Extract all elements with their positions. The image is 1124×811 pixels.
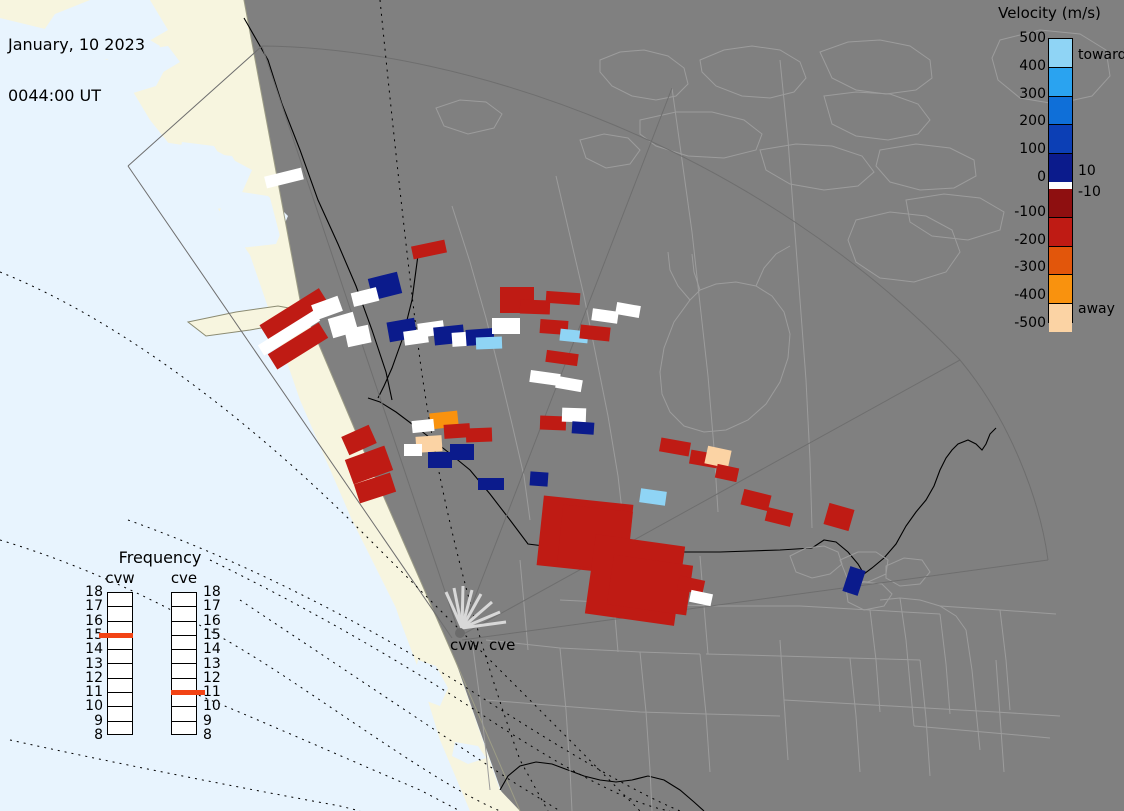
- frequency-gauge-step: [108, 693, 132, 707]
- colorbar-band-6: [1049, 189, 1072, 218]
- frequency-gauge-step: [108, 650, 132, 664]
- colorbar-zero-lower-label: -10: [1078, 184, 1101, 200]
- colorbar-tick-0: 0: [1037, 169, 1046, 185]
- velocity-cell: [476, 337, 502, 350]
- frequency-marker-cvw: [99, 633, 133, 638]
- frequency-gauge-step: [172, 707, 196, 721]
- header-date: January, 10 2023: [8, 36, 145, 53]
- header-time: 0044:00 UT: [8, 87, 145, 104]
- frequency-gauge-label-cve: cve: [168, 569, 200, 587]
- frequency-gauge-cvw: cvw18171615141312111098: [107, 583, 133, 726]
- colorbar-tick-400: 400: [1019, 58, 1046, 74]
- colorbar-zero-upper-label: 10: [1078, 163, 1096, 179]
- velocity-cell: [562, 408, 586, 423]
- superdarn-velocity-map: January, 10 2023 0044:00 UT Velocity (m/…: [0, 0, 1124, 811]
- velocity-cell: [428, 452, 452, 468]
- colorbar-band-1: [1049, 68, 1072, 97]
- colorbar-tick--400: -400: [1014, 287, 1046, 303]
- frequency-gauge-step: [172, 607, 196, 621]
- colorbar-tick-500: 500: [1019, 30, 1046, 46]
- frequency-gauge-cve: cve18171615141312111098: [171, 583, 197, 726]
- colorbar-title: Velocity (m/s): [975, 4, 1124, 22]
- velocity-cell: [478, 478, 504, 490]
- colorbar-band-0: [1049, 39, 1072, 68]
- colorbar-away-label: away: [1078, 301, 1115, 317]
- frequency-gauge-label-cvw: cvw: [104, 569, 136, 587]
- frequency-gauge-step: [108, 593, 132, 607]
- frequency-marker-cve: [171, 690, 205, 695]
- colorbar-tick--500: -500: [1014, 315, 1046, 331]
- frequency-gauge-scale-cve: [171, 592, 197, 735]
- colorbar-tick-200: 200: [1019, 113, 1046, 129]
- velocity-cell: [450, 444, 474, 460]
- frequency-gauge-step: [172, 722, 196, 736]
- velocity-cell: [492, 318, 520, 334]
- frequency-tick-cvw-8: 8: [94, 727, 103, 743]
- colorbar-band-5: [1049, 182, 1072, 189]
- frequency-panel: Frequency cvw18171615141312111098cve1817…: [85, 545, 235, 790]
- frequency-gauge-step: [172, 664, 196, 678]
- frequency-gauge-step: [172, 693, 196, 707]
- velocity-cell: [572, 421, 595, 435]
- frequency-title: Frequency: [85, 548, 235, 567]
- frequency-gauge-step: [172, 622, 196, 636]
- velocity-cell: [404, 444, 422, 456]
- colorbar-toward-label: toward: [1078, 47, 1124, 63]
- velocity-cell: [546, 291, 581, 305]
- colorbar-band-4: [1049, 154, 1072, 182]
- frequency-gauge-step: [108, 636, 132, 650]
- colorbar-band-7: [1049, 218, 1072, 247]
- frequency-gauge-step: [172, 650, 196, 664]
- velocity-colorbar: Velocity (m/s) 5004003002001000-100-200-…: [975, 0, 1124, 340]
- frequency-gauge-step: [108, 707, 132, 721]
- colorbar-tick--200: -200: [1014, 232, 1046, 248]
- frequency-gauge-step: [108, 607, 132, 621]
- colorbar-band-9: [1049, 275, 1072, 304]
- frequency-gauge-scale-cvw: [107, 592, 133, 735]
- radar-site-label-cve: cve: [489, 636, 515, 654]
- colorbar-band-8: [1049, 247, 1072, 276]
- frequency-gauge-step: [108, 679, 132, 693]
- colorbar-tick-300: 300: [1019, 86, 1046, 102]
- colorbar-band-10: [1049, 304, 1072, 332]
- colorbar-tick-100: 100: [1019, 141, 1046, 157]
- frequency-gauge-step: [108, 664, 132, 678]
- frequency-tick-cve-8: 8: [203, 727, 212, 743]
- timestamp-header: January, 10 2023 0044:00 UT: [8, 2, 145, 138]
- frequency-gauge-step: [172, 636, 196, 650]
- velocity-cell: [520, 299, 550, 314]
- velocity-cell: [530, 471, 549, 486]
- colorbar-tick--100: -100: [1014, 204, 1046, 220]
- frequency-gauge-step: [172, 593, 196, 607]
- colorbar-band-2: [1049, 97, 1072, 126]
- colorbar-band-3: [1049, 125, 1072, 154]
- colorbar-tick--300: -300: [1014, 259, 1046, 275]
- colorbar-gradient: [1048, 38, 1073, 323]
- velocity-cell: [466, 428, 492, 443]
- frequency-gauge-step: [108, 722, 132, 736]
- radar-site-label-cvw: cvw: [450, 636, 479, 654]
- velocity-cell: [411, 419, 434, 433]
